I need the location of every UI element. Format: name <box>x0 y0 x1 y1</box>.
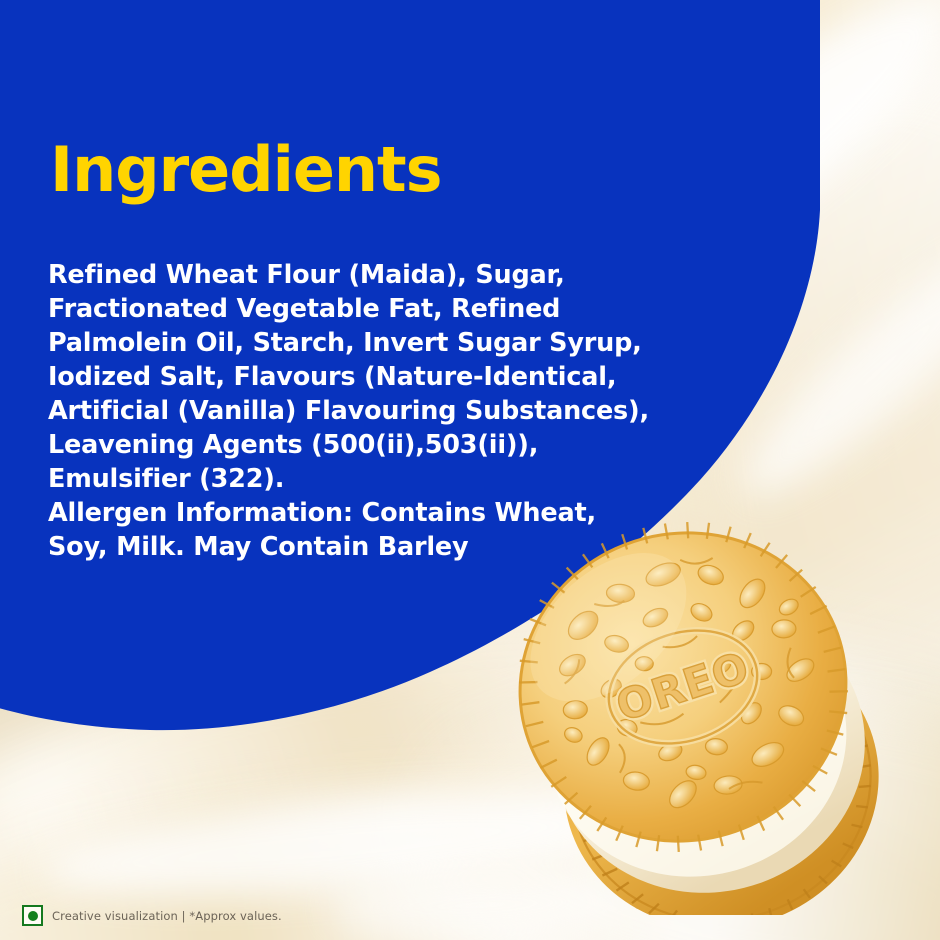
ingredients-line: Artificial (Vanilla) Flavouring Substanc… <box>48 394 708 428</box>
ingredients-line: Palmolein Oil, Starch, Invert Sugar Syru… <box>48 326 708 360</box>
vegetarian-mark-icon <box>22 905 43 926</box>
product-ingredients-panel: Ingredients Refined Wheat Flour (Maida),… <box>0 0 940 940</box>
disclaimer-text: Creative visualization | *Approx values. <box>52 909 282 923</box>
oreo-cookie-svg: OREO OREO <box>505 515 925 915</box>
ingredients-line: Fractionated Vegetable Fat, Refined <box>48 292 708 326</box>
vegetarian-dot <box>28 911 38 921</box>
page-title: Ingredients <box>50 139 442 201</box>
footer-disclaimer: Creative visualization | *Approx values. <box>22 905 282 926</box>
oreo-cookie-image: OREO OREO <box>505 515 925 915</box>
ingredients-line: Iodized Salt, Flavours (Nature-Identical… <box>48 360 708 394</box>
ingredients-line: Emulsifier (322). <box>48 462 708 496</box>
ingredients-line: Refined Wheat Flour (Maida), Sugar, <box>48 258 708 292</box>
ingredients-line: Leavening Agents (500(ii),503(ii)), <box>48 428 708 462</box>
